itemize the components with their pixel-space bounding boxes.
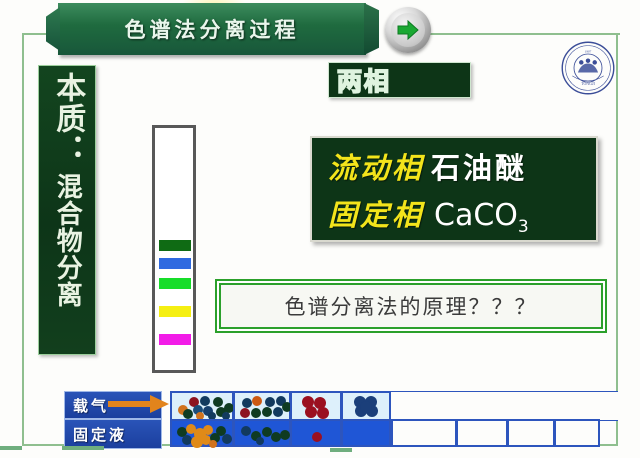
title-banner: 色谱法分离过程	[58, 3, 366, 55]
particle-dot	[222, 434, 232, 444]
two-phase-label: 两相	[337, 62, 391, 98]
particle-dot	[200, 396, 210, 406]
essence-heading: 本质：	[52, 72, 83, 165]
particle-dot	[209, 440, 217, 448]
phases-box: 流动相 石油醚 固定相 CaCO3	[310, 136, 598, 242]
blue-band	[159, 258, 191, 269]
cell-3-stationary	[290, 419, 342, 447]
mobile-phase-label: 流动相	[328, 145, 424, 187]
particle-dot	[265, 397, 275, 407]
two-phase-box: 两相	[328, 62, 471, 98]
magenta-band	[159, 334, 191, 345]
essence-box: 本质： 混合物分离	[38, 65, 96, 355]
stationary-phase-row: 固定相 CaCO3	[328, 192, 596, 239]
particle-dot	[262, 407, 272, 417]
next-slide-button[interactable]	[385, 7, 431, 53]
cell-3-mobile	[290, 391, 342, 421]
empty-mobile-region	[391, 391, 618, 421]
page-title: 色谱法分离过程	[58, 3, 366, 55]
essence-body: 混合物分离	[54, 173, 81, 308]
cell-4-mobile	[341, 391, 391, 421]
particle-dot	[240, 408, 250, 418]
cell-1-stationary	[170, 419, 234, 447]
empty-cell-4	[554, 419, 600, 447]
question-text: 色谱分离法的原理？？？	[285, 291, 538, 321]
baseline-tick-left	[62, 446, 104, 450]
frame-top-right-segment	[428, 33, 620, 35]
mobile-phase-row: 流动相 石油醚	[328, 145, 596, 192]
dark-green-band	[159, 240, 191, 251]
question-box: 色谱分离法的原理？？？	[215, 279, 607, 333]
chromatography-column	[152, 125, 196, 373]
particle-dot	[242, 398, 252, 408]
stationary-phase-formula: CaCO3	[434, 198, 529, 237]
green-right-arrow-icon	[396, 19, 420, 41]
particle-dot	[183, 409, 193, 419]
formula-subscript: 3	[518, 217, 529, 237]
slide-canvas: 色谱法分离过程 TONGJI 1907 本质： 混合物分离 两相 流动相	[0, 0, 640, 458]
carrier-gas-text: 载气	[65, 395, 109, 416]
particle-dot	[213, 397, 223, 407]
particle-dot	[305, 406, 317, 418]
orange-right-arrow-icon	[108, 392, 170, 416]
stationary-liquid-label: 固定液	[64, 419, 162, 449]
particle-dot	[360, 401, 372, 413]
yellow-band	[159, 306, 191, 317]
baseline-tick-mid	[330, 448, 352, 452]
stationary-liquid-text: 固定液	[65, 424, 127, 445]
particle-dot	[280, 430, 290, 440]
particle-dot	[317, 407, 329, 419]
svg-text:TONGJI: TONGJI	[581, 82, 595, 86]
particle-dot	[241, 426, 251, 436]
svg-text:1907: 1907	[585, 49, 592, 53]
cell-2-mobile	[233, 391, 291, 421]
frame-left-tick	[0, 446, 22, 450]
cell-2-stationary	[233, 419, 291, 447]
particle-dot	[312, 432, 322, 442]
stationary-phase-label: 固定相	[328, 192, 424, 234]
bright-green-band	[159, 278, 191, 289]
mobile-phase-value: 石油醚	[431, 145, 527, 187]
next-slide-button-ring	[391, 13, 425, 47]
empty-cell-1	[391, 419, 457, 447]
empty-cell-2	[456, 419, 508, 447]
particle-dot	[251, 408, 261, 418]
particle-dot	[256, 437, 264, 445]
particle-dot	[252, 396, 262, 406]
university-seal-icon: TONGJI 1907	[560, 40, 616, 96]
empty-cell-3	[507, 419, 555, 447]
cell-1-mobile	[170, 391, 234, 421]
cell-4-stationary	[341, 419, 391, 447]
